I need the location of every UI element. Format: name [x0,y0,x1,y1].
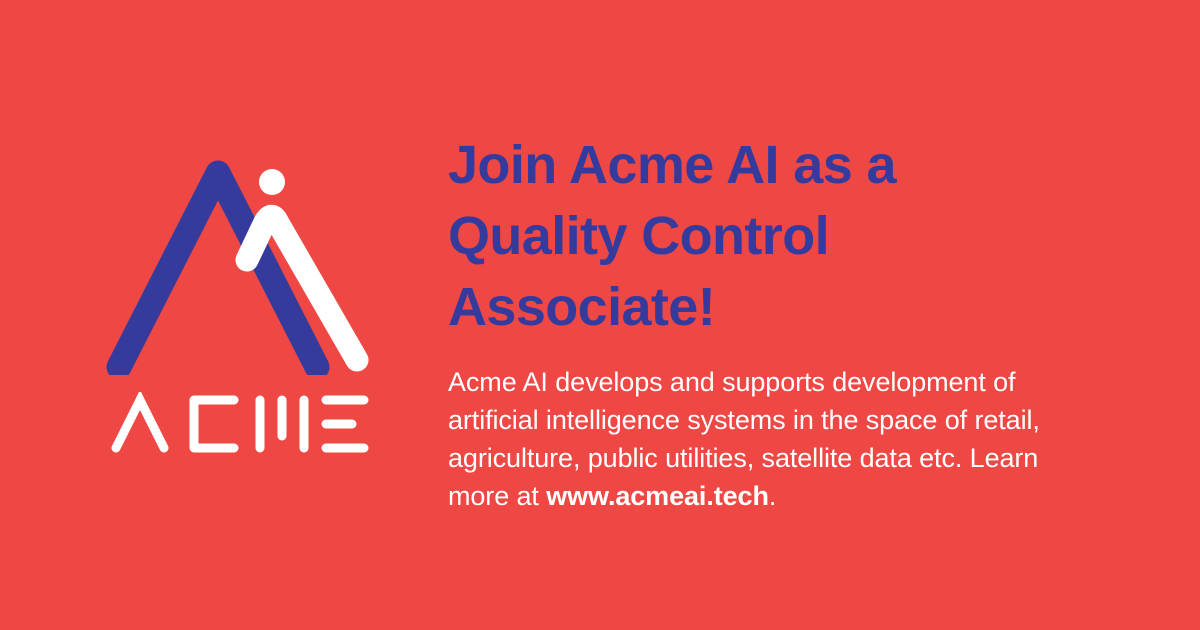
wordmark-letter-c [194,400,234,448]
website-link[interactable]: www.acmeai.tech [546,481,769,511]
body-copy: Acme AI develops and supports developmen… [448,363,1098,515]
wordmark-letter-e [326,400,364,448]
acme-wordmark: ACME [110,392,370,454]
body-copy-outro: . [769,481,776,511]
wordmark-text: ACME [370,392,371,393]
wordmark-letter-a [116,400,164,448]
logomark-i-dot [259,169,285,195]
poster-canvas: ACME Join Acme AI as a Quality Control A… [0,0,1200,630]
brand-lockup: ACME [95,160,380,460]
content-column: Join Acme AI as a Quality Control Associ… [448,130,1108,515]
logomark-svg [95,160,380,375]
headline: Join Acme AI as a Quality Control Associ… [448,130,1048,343]
wordmark-svg [110,392,370,454]
wordmark-letter-m [260,400,304,448]
acme-ai-peak-logomark [95,160,380,375]
logomark-a-chevron [119,173,317,367]
